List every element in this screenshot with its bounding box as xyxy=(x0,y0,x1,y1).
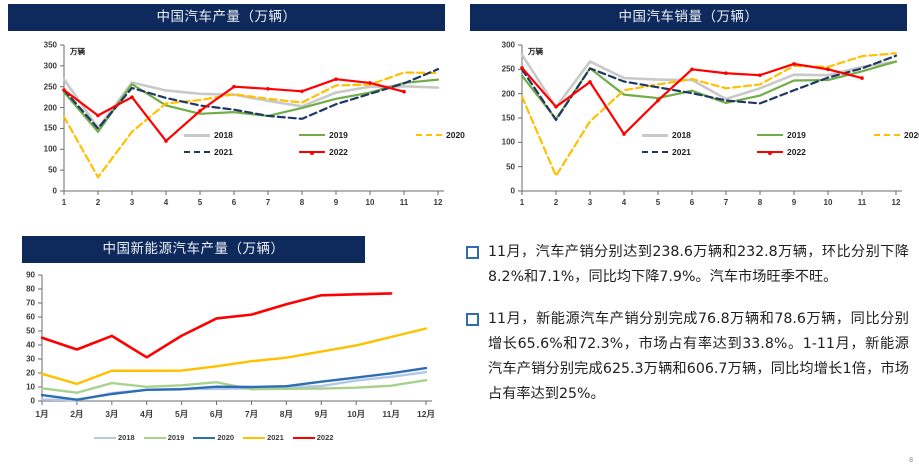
square-bullet-icon xyxy=(466,246,479,259)
legend-label-2020: 2020 xyxy=(446,131,465,140)
legend-item-2019[interactable]: 2019 xyxy=(757,131,806,140)
legend-swatch-2021 xyxy=(184,151,210,153)
note-text: 11月，新能源汽车产销分别完成76.8万辆和78.6万辆，同比分别增长65.6%… xyxy=(488,307,909,408)
legend-swatch-2021 xyxy=(243,437,265,439)
legend-item-2018[interactable]: 2018 xyxy=(184,131,233,140)
legend-item-2021[interactable]: 2021 xyxy=(184,148,233,157)
legend-swatch-2019 xyxy=(757,134,783,136)
legend-item-2022[interactable]: 2022 xyxy=(299,148,348,157)
legend-swatch-2019 xyxy=(144,437,166,439)
legend-nev: 20182019202020212022 xyxy=(94,433,333,442)
series-marker-2022 xyxy=(554,105,558,109)
series-marker-2022 xyxy=(198,109,202,113)
series-marker-2022 xyxy=(96,114,100,118)
notes-panel: 11月，汽车产销分别达到238.6万辆和232.8万辆，环比分别下降8.2%和7… xyxy=(466,240,909,462)
legend-item-2022[interactable]: 2022 xyxy=(293,433,334,442)
legend-label-2019: 2019 xyxy=(787,131,806,140)
legend-marker-dot xyxy=(768,151,772,155)
series-marker-2022 xyxy=(588,80,592,84)
legend-label-2019: 2019 xyxy=(329,131,348,140)
legend-swatch-2020 xyxy=(416,134,442,136)
series-marker-2022 xyxy=(334,77,338,81)
legend-swatch-2018 xyxy=(94,437,116,439)
legend-marker-dot xyxy=(310,151,314,155)
legend-label-2018: 2018 xyxy=(118,433,135,442)
legend-label-2022: 2022 xyxy=(317,433,334,442)
series-marker-2022 xyxy=(656,99,660,103)
legend-label-2021: 2021 xyxy=(267,433,284,442)
legend-label-2020: 2020 xyxy=(217,433,234,442)
chart-body-production: 万辆 050100150200250300350 123456789101112… xyxy=(8,31,451,226)
series-marker-2022 xyxy=(266,87,270,91)
series-marker-2022 xyxy=(792,62,796,66)
series-marker-2022 xyxy=(62,88,66,92)
legend-item-2020[interactable]: 2020 xyxy=(416,131,465,140)
square-bullet-icon xyxy=(466,313,479,326)
legend-item-2021[interactable]: 2021 xyxy=(243,433,284,442)
page-number: 8 xyxy=(909,457,913,464)
series-marker-2022 xyxy=(130,95,134,99)
legend-item-2022[interactable]: 2022 xyxy=(757,148,806,157)
legend-swatch-2022 xyxy=(757,151,783,153)
legend-item-2019[interactable]: 2019 xyxy=(144,433,185,442)
chart-title-nev: 中国新能源汽车产量（万辆） xyxy=(22,236,365,263)
legend-item-2018[interactable]: 2018 xyxy=(94,433,135,442)
series-marker-2022 xyxy=(622,132,626,136)
note-text: 11月，汽车产销分别达到238.6万辆和232.8万辆，环比分别下降8.2%和7… xyxy=(488,240,909,291)
plot-area-production xyxy=(8,31,451,226)
slide-root: 中国汽车产量（万辆） 万辆 050100150200250300350 1234… xyxy=(0,0,919,466)
legend-label-2018: 2018 xyxy=(214,131,233,140)
series-marker-2022 xyxy=(402,90,406,94)
plot-area-nev xyxy=(8,263,451,461)
legend-swatch-2022 xyxy=(299,151,325,153)
series-line-2021 xyxy=(522,56,896,120)
legend-label-2018: 2018 xyxy=(672,131,691,140)
legend-item-2020[interactable]: 2020 xyxy=(874,131,919,140)
chart-panel-sales: 中国汽车销量（万辆） 万辆 050100150200250300 1234567… xyxy=(466,4,909,230)
legend-swatch-2021 xyxy=(642,151,668,153)
series-marker-2022 xyxy=(520,66,524,70)
chart-body-nev: 0102030405060708090 1月2月3月4月5月6月7月8月9月10… xyxy=(8,263,451,461)
chart-panel-nev: 中国新能源汽车产量（万辆） 0102030405060708090 1月2月3月… xyxy=(8,236,451,466)
series-marker-2022 xyxy=(164,139,168,143)
legend-production: 20182019202020212022 xyxy=(184,131,454,165)
series-marker-2022 xyxy=(860,76,864,80)
legend-swatch-2020 xyxy=(193,437,215,439)
legend-label-2022: 2022 xyxy=(329,148,348,157)
legend-swatch-2018 xyxy=(184,134,210,137)
series-marker-2022 xyxy=(300,90,304,94)
series-marker-2022 xyxy=(826,68,830,72)
legend-label-2021: 2021 xyxy=(214,148,233,157)
legend-label-2021: 2021 xyxy=(672,148,691,157)
legend-item-2020[interactable]: 2020 xyxy=(193,433,234,442)
legend-swatch-2018 xyxy=(642,134,668,137)
legend-item-2018[interactable]: 2018 xyxy=(642,131,691,140)
note-item: 11月，汽车产销分别达到238.6万辆和232.8万辆，环比分别下降8.2%和7… xyxy=(466,240,909,291)
legend-label-2022: 2022 xyxy=(787,148,806,157)
legend-swatch-2020 xyxy=(874,134,900,136)
legend-label-2020: 2020 xyxy=(904,131,919,140)
series-line-2020 xyxy=(42,368,426,400)
legend-swatch-2022 xyxy=(293,437,315,439)
legend-sales: 20182019202020212022 xyxy=(642,131,912,165)
series-marker-2022 xyxy=(724,71,728,75)
chart-title-sales: 中国汽车销量（万辆） xyxy=(470,4,907,31)
legend-item-2021[interactable]: 2021 xyxy=(642,148,691,157)
series-marker-2022 xyxy=(690,68,694,72)
legend-item-2019[interactable]: 2019 xyxy=(299,131,348,140)
plot-area-sales xyxy=(466,31,909,226)
chart-panel-production: 中国汽车产量（万辆） 万辆 050100150200250300350 1234… xyxy=(8,4,451,230)
note-item: 11月，新能源汽车产销分别完成76.8万辆和78.6万辆，同比分别增长65.6%… xyxy=(466,307,909,408)
legend-label-2019: 2019 xyxy=(168,433,185,442)
chart-body-sales: 万辆 050100150200250300 123456789101112 20… xyxy=(466,31,909,226)
series-marker-2022 xyxy=(758,73,762,77)
chart-title-production: 中国汽车产量（万辆） xyxy=(8,4,445,31)
legend-swatch-2019 xyxy=(299,134,325,136)
series-marker-2022 xyxy=(368,81,372,85)
series-marker-2022 xyxy=(232,85,236,89)
